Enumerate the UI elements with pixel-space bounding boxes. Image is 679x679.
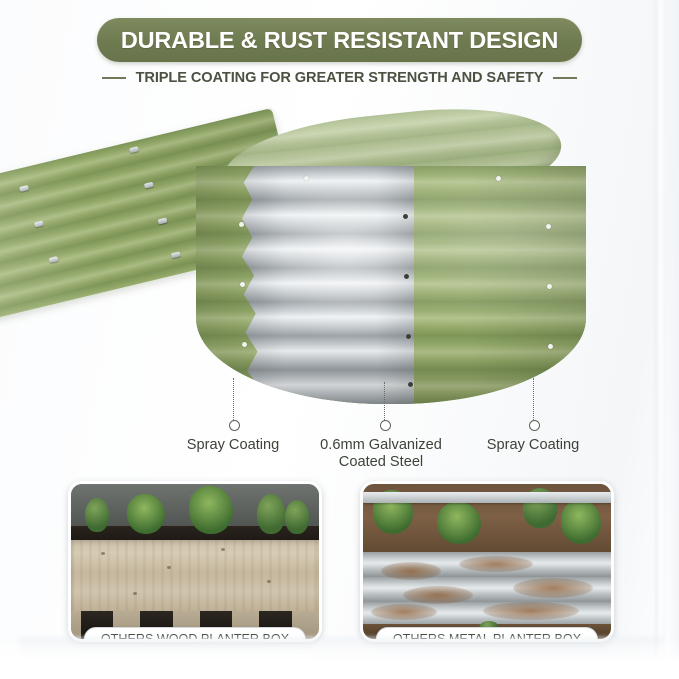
rivet (548, 344, 553, 349)
leader-dot (529, 420, 540, 431)
rivet (304, 176, 309, 181)
plant (561, 500, 601, 544)
wood-knot (221, 548, 225, 551)
header-banner: DURABLE & RUST RESISTANT DESIGN (97, 18, 582, 62)
planter-vessel (196, 114, 586, 404)
rust-stain (403, 586, 473, 604)
bottom-sheen (0, 639, 679, 679)
leader-dot (229, 420, 240, 431)
rust-stain (371, 604, 437, 620)
rivet (239, 222, 244, 227)
leader-dot (380, 420, 391, 431)
rust-stain (459, 556, 533, 572)
wood-knot (101, 552, 105, 555)
leader-line (533, 378, 534, 420)
rivet (403, 214, 408, 219)
metal-planter-photo (363, 484, 611, 639)
callout-label: 0.6mm Galvanized Coated Steel (305, 437, 457, 471)
banner-title: DURABLE & RUST RESISTANT DESIGN (121, 27, 558, 54)
rivet (406, 334, 411, 339)
callout-label: Spray Coating (163, 437, 303, 454)
plant (127, 494, 165, 534)
subtitle-dash-right (553, 77, 577, 79)
product-illustration (0, 100, 679, 410)
plant (437, 502, 481, 544)
rivet (404, 274, 409, 279)
infographic-page: DURABLE & RUST RESISTANT DESIGN TRIPLE C… (0, 0, 679, 679)
rivet (496, 176, 501, 181)
leader-line (233, 378, 234, 420)
screw-icon (158, 218, 168, 225)
wood-knot (167, 566, 171, 569)
screw-icon (49, 256, 59, 263)
rivet (547, 284, 552, 289)
wood-knot (267, 580, 271, 583)
subtitle-row: TRIPLE COATING FOR GREATER STRENGTH AND … (0, 70, 679, 86)
rivet (546, 224, 551, 229)
leader-line (384, 382, 385, 420)
rust-stain (381, 562, 441, 580)
rivet (242, 342, 247, 347)
metal-top-rail (363, 492, 611, 503)
screw-icon (171, 251, 181, 258)
wood-knot (133, 592, 137, 595)
screw-icon (129, 146, 139, 153)
plant (285, 500, 309, 534)
plant (257, 494, 285, 534)
rivet (408, 382, 413, 387)
galvanized-steel-layer (242, 166, 414, 404)
screw-icon (34, 221, 44, 228)
rivet (240, 282, 245, 287)
callout-label: Spray Coating (463, 437, 603, 454)
screw-icon (19, 185, 29, 192)
rust-stain (483, 602, 579, 620)
plant (189, 486, 233, 534)
wood-panel (71, 540, 319, 614)
subtitle-text: TRIPLE COATING FOR GREATER STRENGTH AND … (136, 70, 544, 86)
planter-front-band (196, 166, 586, 404)
subtitle-dash-left (102, 77, 126, 79)
comparison-photo-metal: OTHERS METAL PLANTER BOX (360, 481, 614, 642)
plant (85, 498, 109, 532)
wood-planter-photo (71, 484, 319, 639)
comparison-photo-wood: OTHERS WOOD PLANTER BOX (68, 481, 322, 642)
rust-stain (513, 578, 593, 598)
screw-icon (144, 182, 154, 189)
